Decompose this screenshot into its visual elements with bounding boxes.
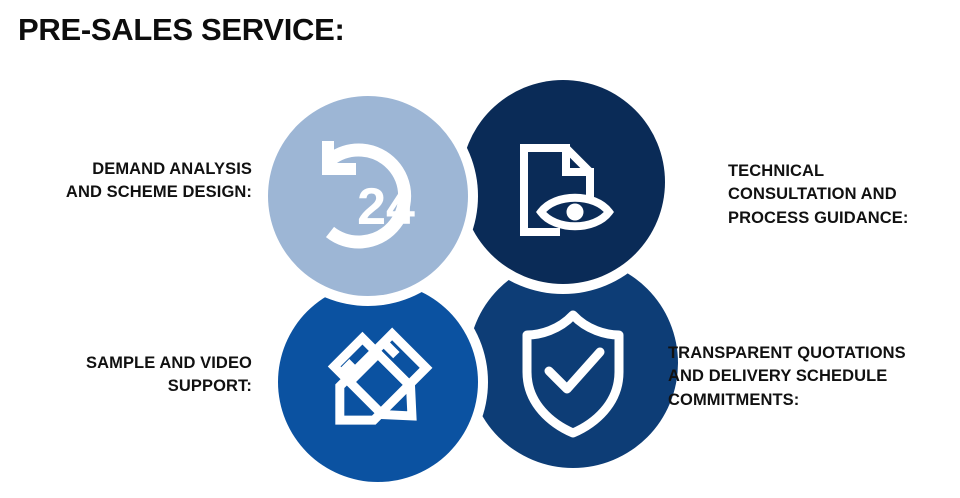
label-line: PROCESS GUIDANCE: [728,207,954,230]
label-technical-consultation: TECHNICAL CONSULTATION AND PROCESS GUIDA… [728,160,954,230]
label-line: TRANSPARENT QUOTATIONS [668,342,958,365]
label-line: AND SCHEME DESIGN: [10,181,252,204]
label-demand-analysis: DEMAND ANALYSIS AND SCHEME DESIGN: [10,158,252,205]
document-eye-pupil [567,204,584,221]
label-line: CONSULTATION AND [728,183,954,206]
label-transparent-quotations: TRANSPARENT QUOTATIONS AND DELIVERY SCHE… [668,342,958,412]
label-line: DEMAND ANALYSIS [10,158,252,181]
label-line: AND DELIVERY SCHEDULE [668,365,958,388]
circle-technical-consultation[interactable] [461,80,665,284]
label-line: SUPPORT: [10,375,252,398]
label-line: COMMITMENTS: [668,389,958,412]
label-line: TECHNICAL [728,160,954,183]
circle-demand-analysis[interactable]: 24 [268,96,468,296]
infographic-canvas: PRE-SALES SERVICE: [0,0,960,498]
circle-sample-video-support[interactable] [278,282,478,482]
label-line: SAMPLE AND VIDEO [10,352,252,375]
label-sample-video-support: SAMPLE AND VIDEO SUPPORT: [10,352,252,399]
24-hours-label: 24 [357,178,415,236]
circle-cluster: 24 [0,0,960,498]
